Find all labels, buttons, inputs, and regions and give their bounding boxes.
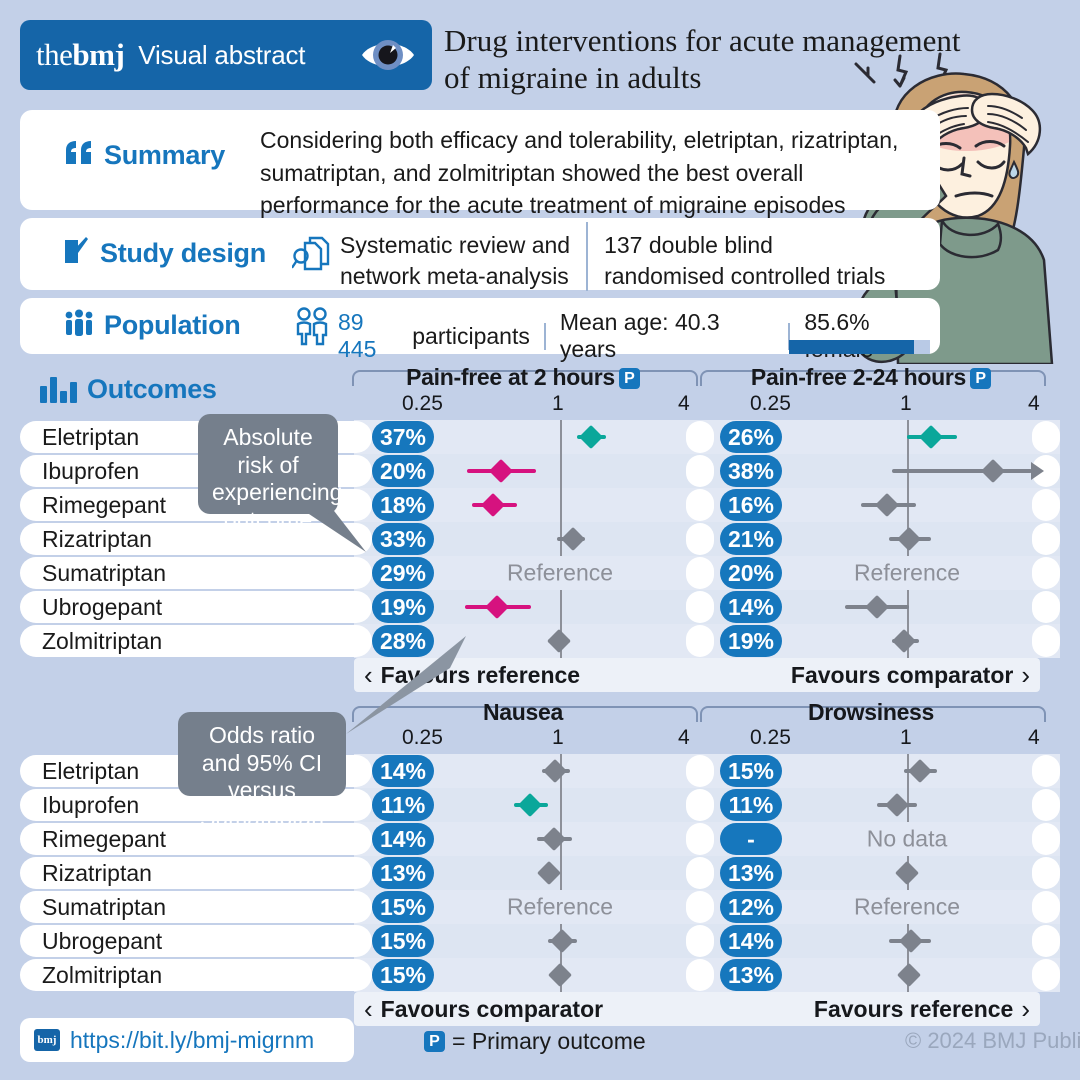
panel-title-pain-free-2h: Pain-free at 2 hoursP [352,364,694,391]
forest-plot-cell [782,624,1032,658]
axis-tick-low: 0.25 [750,726,791,750]
table-row: Sumatriptan29%Reference20%Reference [20,556,1060,590]
table-row: Ubrogepant19%14% [20,590,1060,624]
study-design-label-group: Study design [64,237,266,270]
summary-label: Summary [104,140,225,171]
forest-plot-cell [782,488,1032,522]
callout-2-pointer [340,630,480,740]
point-estimate-diamond [489,459,513,483]
panel-title-drowsiness: Drowsiness [700,699,1042,726]
url-pill[interactable]: bmj https://bit.ly/bmj-migrnm [20,1018,354,1062]
row-end-cap [1032,925,1060,957]
reference-label: Reference [782,560,1032,587]
forest-plot-cell [434,420,686,454]
row-end-cap [1032,489,1060,521]
absolute-risk-badge: 13% [720,959,782,991]
study-design-label: Study design [100,238,266,269]
population-label: Population [104,310,240,341]
table-row: Eletriptan37%26% [20,420,1060,454]
two-people-icon [292,306,332,351]
table-row: Zolmitriptan28%19% [20,624,1060,658]
null-effect-line [560,454,562,488]
point-estimate-diamond [485,595,509,619]
point-estimate-diamond [897,527,921,551]
row-end-cap [686,557,714,589]
bmj-visual-abstract-badge: thebmj Visual abstract [20,20,432,90]
absolute-risk-badge: 11% [720,789,782,821]
favours-right-label: Favours comparator [791,662,1013,689]
axis-tick-high: 4 [678,726,690,750]
absolute-risk-badge: 16% [720,489,782,521]
row-end-cap [1032,557,1060,589]
primary-outcome-legend: P = Primary outcome [420,1028,646,1055]
null-effect-line [560,420,562,454]
forest-plot-cell [782,958,1032,992]
summary-label-group: Summary [64,140,225,171]
primary-outcome-icon: P [970,368,991,389]
primary-outcome-icon: P [619,368,640,389]
row-end-cap [1032,823,1060,855]
absolute-risk-badge: 15% [720,755,782,787]
absolute-risk-badge: 19% [372,591,434,623]
point-estimate-diamond [548,963,572,987]
axis-tick-high: 4 [1028,392,1040,416]
chevron-right-icon: › [1021,660,1030,691]
axis-tick-high: 4 [1028,726,1040,750]
row-end-cap [1032,891,1060,923]
drug-name-cell: Rizatriptan [20,857,372,889]
row-end-cap [686,823,714,855]
absolute-risk-badge: 15% [372,891,434,923]
study-design-card: Study design Systematic review and netwo… [20,218,940,290]
absolute-risk-badge: 29% [372,557,434,589]
point-estimate-diamond [899,929,923,953]
table-row: Eletriptan14%15% [20,754,1060,788]
point-estimate-diamond [543,759,567,783]
row-end-cap [686,789,714,821]
forest-plot-cell: No data [782,822,1032,856]
table-row: Rizatriptan13%13% [20,856,1060,890]
forest-plot-cell [782,754,1032,788]
visual-abstract-label: Visual abstract [138,40,305,71]
absolute-risk-badge: 14% [372,823,434,855]
point-estimate-diamond [561,527,585,551]
row-end-cap [1032,857,1060,889]
point-estimate-diamond [550,929,574,953]
point-estimate-diamond [895,861,919,885]
point-estimate-diamond [875,493,899,517]
table-row: Sumatriptan15%Reference12%Reference [20,890,1060,924]
row-end-cap [686,925,714,957]
legend-text: = Primary outcome [452,1028,646,1055]
study-design-col-1: Systematic review and network meta-analy… [340,222,586,291]
axis-tick-mid: 1 [900,392,912,416]
point-estimate-diamond [897,963,921,987]
reference-label: Reference [434,894,686,921]
absolute-risk-badge: 13% [720,857,782,889]
row-end-cap [686,857,714,889]
favours-left-group: ‹ Favours comparator [364,994,603,1025]
outcomes-table-top: Eletriptan37%26%Ibuprofen20%38%Rimegepan… [20,420,1060,658]
population-accent-bar [789,340,914,354]
forest-plot-cell [782,522,1032,556]
row-end-cap [686,455,714,487]
eye-icon [360,38,416,72]
absolute-risk-badge: 38% [720,455,782,487]
summary-text: Considering both efficacy and tolerabili… [260,124,920,222]
drug-name-cell: Zolmitriptan [20,625,372,657]
forest-plot-cell [782,788,1032,822]
point-estimate-diamond [981,459,1005,483]
forest-plot-cell [434,488,686,522]
table-row: Rimegepant18%16% [20,488,1060,522]
row-end-cap [686,523,714,555]
point-estimate-diamond [892,629,916,653]
drug-name-cell: Zolmitriptan [20,959,372,991]
absolute-risk-badge: 14% [372,755,434,787]
axis-tick-mid: 1 [552,392,564,416]
callout-absolute-risk: Absolute risk of experiencing outcome [198,414,338,514]
row-end-cap [686,959,714,991]
absolute-risk-badge: 21% [720,523,782,555]
documents-search-icon [292,234,334,281]
forest-plot-cell: Reference [434,890,686,924]
forest-plot-cell [434,754,686,788]
population-stats: 89 445 participants Mean age: 40.3 years… [338,309,940,363]
favours-right-group: Favours comparator › [791,660,1030,691]
table-row: Ubrogepant15%14% [20,924,1060,958]
chevron-left-icon: ‹ [364,994,373,1025]
absolute-risk-badge: - [720,823,782,855]
point-estimate-diamond [542,827,566,851]
row-end-cap [686,891,714,923]
absolute-risk-badge: 20% [720,557,782,589]
favours-right-group: Favours reference › [814,994,1030,1025]
table-row: Ibuprofen11%11% [20,788,1060,822]
drug-name-cell: Ubrogepant [20,591,372,623]
forest-plot-cell: Reference [434,556,686,590]
forest-plot-cell [782,924,1032,958]
point-estimate-diamond [908,759,932,783]
absolute-risk-badge: 15% [372,925,434,957]
axis-tick-low: 0.25 [750,392,791,416]
forest-plot-cell [434,856,686,890]
axis-tick-high: 4 [678,392,690,416]
drug-name-cell: Ubrogepant [20,925,372,957]
visual-abstract-page: thebmj Visual abstract Drug intervention… [0,0,1080,1080]
forest-plot-cell [782,454,1032,488]
population-label-group: Population [64,309,240,342]
reference-label: Reference [782,894,1032,921]
null-effect-line [560,488,562,522]
absolute-risk-badge: 11% [372,789,434,821]
short-url[interactable]: https://bit.ly/bmj-migrnm [70,1027,314,1054]
point-estimate-diamond [865,595,889,619]
forest-plot-cell [434,958,686,992]
row-end-cap [686,591,714,623]
row-end-cap [1032,625,1060,657]
mean-age: Mean age: 40.3 years [560,309,775,363]
point-estimate-diamond [481,493,505,517]
divider [544,323,546,350]
forest-plot-cell [434,822,686,856]
forest-plot-cell [434,522,686,556]
forest-plot-cell [782,856,1032,890]
row-end-cap [1032,591,1060,623]
favours-right-label: Favours reference [814,996,1013,1023]
pencil-icon [64,237,90,270]
row-end-cap [686,421,714,453]
drug-name-cell: Sumatriptan [20,891,372,923]
axis-tick-low: 0.25 [402,392,443,416]
drug-name-cell: Sumatriptan [20,557,372,589]
female-percentage: 85.6% female [804,309,940,363]
forest-plot-cell [782,590,1032,624]
quote-icon [64,140,94,171]
bmj-logo: thebmj [36,37,124,73]
point-estimate-diamond [919,425,943,449]
row-end-cap [1032,789,1060,821]
people-icon [64,309,94,342]
absolute-risk-badge: 37% [372,421,434,453]
forest-plot-cell [434,788,686,822]
no-data-label: No data [782,826,1032,853]
summary-card: Summary Considering both efficacy and to… [20,110,940,210]
axis-tick-mid: 1 [552,726,564,750]
study-design-col-2: 137 double blind randomised controlled t… [586,222,901,291]
point-estimate-diamond [547,629,571,653]
absolute-risk-badge: 14% [720,591,782,623]
null-effect-line [560,590,562,624]
ci-arrow-icon [1031,462,1044,480]
chevron-right-icon: › [1021,994,1030,1025]
study-design-text: Systematic review and network meta-analy… [340,222,901,291]
favours-bar-bottom: ‹ Favours comparator Favours reference › [354,992,1040,1026]
row-end-cap [686,755,714,787]
outcomes-label: Outcomes [87,374,217,405]
favours-left-label: Favours comparator [381,996,603,1023]
table-row: Ibuprofen20%38% [20,454,1060,488]
participants-word: participants [412,323,530,350]
absolute-risk-badge: 26% [720,421,782,453]
point-estimate-diamond [537,861,561,885]
axis-tick-mid: 1 [900,726,912,750]
primary-outcome-icon: P [424,1031,445,1052]
participants-count: 89 445 [338,309,406,363]
row-end-cap [1032,755,1060,787]
panel-title-pain-free-2-24h: Pain-free 2-24 hoursP [700,364,1042,391]
forest-plot-cell [434,454,686,488]
absolute-risk-badge: 12% [720,891,782,923]
bmj-mini-logo: bmj [34,1029,60,1051]
outcomes-table-bottom: Eletriptan14%15%Ibuprofen11%11%Rimegepan… [20,754,1060,992]
forest-plot-cell [782,420,1032,454]
bar-chart-icon [40,377,77,403]
forest-plot-cell [434,590,686,624]
row-end-cap [1032,959,1060,991]
forest-plot-cell: Reference [782,890,1032,924]
forest-plot-cell [434,924,686,958]
table-row: Zolmitriptan15%13% [20,958,1060,992]
forest-plot-cell: Reference [782,556,1032,590]
row-end-cap [686,489,714,521]
outcomes-label-group: Outcomes [40,374,217,405]
reference-label: Reference [434,560,686,587]
point-estimate-diamond [579,425,603,449]
point-estimate-diamond [518,793,542,817]
absolute-risk-badge: 15% [372,959,434,991]
absolute-risk-badge: 13% [372,857,434,889]
table-row: Rimegepant14%-No data [20,822,1060,856]
copyright: © 2024 BMJ Publishing Group Ltd [905,1028,1080,1054]
callout-odds-ratio: Odds ratio and 95% CI versus Sumatriptan [178,712,346,796]
absolute-risk-badge: 19% [720,625,782,657]
row-end-cap [686,625,714,657]
table-row: Rizatriptan33%21% [20,522,1060,556]
confidence-interval-line [892,469,1032,473]
row-end-cap [1032,523,1060,555]
point-estimate-diamond [885,793,909,817]
absolute-risk-badge: 14% [720,925,782,957]
null-effect-line [560,788,562,822]
row-end-cap [1032,421,1060,453]
population-accent-bar-tail [914,340,930,354]
